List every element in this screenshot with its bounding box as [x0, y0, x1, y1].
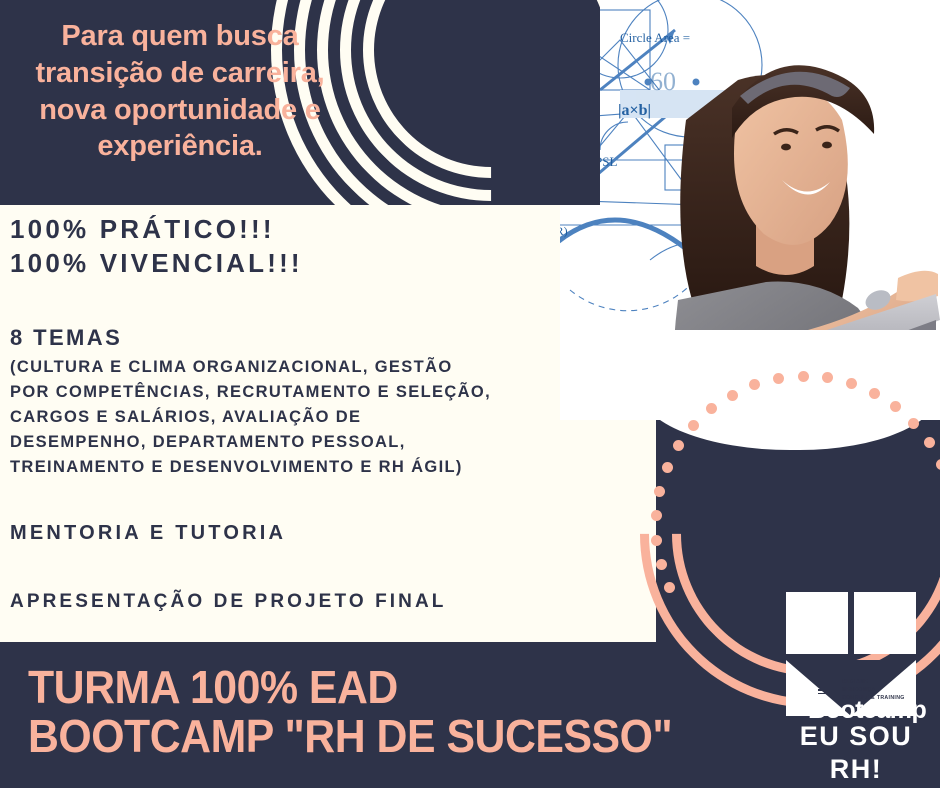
- cta-line-1: TURMA 100% EAD: [28, 663, 735, 712]
- shout-line-2: 100% VIVENCIAL!!!: [10, 246, 650, 280]
- salmon-dot: [706, 403, 717, 414]
- salmon-dot: [651, 535, 662, 546]
- headline-line-3: nova oportunidade e: [0, 92, 360, 129]
- temas-line-5: TREINAMENTO E DESENVOLVIMENTO E RH ÁGIL): [10, 455, 650, 480]
- projeto-final-line: APRESENTAÇÃO DE PROJETO FINAL: [10, 591, 650, 613]
- salmon-dot: [869, 388, 880, 399]
- mentoria-line: MENTORIA E TUTORIA: [10, 522, 650, 545]
- bars-icon: [818, 679, 838, 696]
- shout-line-1: 100% PRÁTICO!!!: [10, 212, 650, 246]
- salmon-dot: [651, 510, 662, 521]
- headline-line-2: transição de carreira,: [0, 55, 360, 92]
- salmon-dot: [890, 401, 901, 412]
- logo-square-left: [786, 592, 848, 654]
- call-to-action: TURMA 100% EAD BOOTCAMP "RH DE SUCESSO": [28, 663, 735, 761]
- salmon-dot: [656, 559, 667, 570]
- promotional-flyer: Area = r² Circle Area = a×b |a×b| 60 θ P…: [0, 0, 940, 788]
- salmon-dot: [846, 378, 857, 389]
- cta-line-2: BOOTCAMP "RH DE SUCESSO": [28, 712, 735, 761]
- brand-name-line-1: REGIANE: [842, 678, 905, 686]
- salmon-dot: [773, 373, 784, 384]
- brand-name-line-2: MENDONÇA: [842, 686, 905, 694]
- headline-line-1: Para quem busca: [0, 18, 360, 55]
- headline-line-4: experiência.: [0, 128, 360, 165]
- brand-mark: REGIANE MENDONÇA CONSULT & TRAINING: [818, 678, 914, 698]
- salmon-dot: [908, 418, 919, 429]
- temas-list: (CULTURA E CLIMA ORGANIZACIONAL, GESTÃO …: [10, 355, 650, 480]
- salmon-dot: [654, 486, 665, 497]
- salmon-dot: [688, 420, 699, 431]
- slogan: EU SOU RH!: [786, 720, 926, 786]
- body-copy: 100% PRÁTICO!!! 100% VIVENCIAL!!! 8 TEMA…: [10, 212, 650, 613]
- salmon-dot: [924, 437, 935, 448]
- temas-line-2: POR COMPETÊNCIAS, RECRUTAMENTO E SELEÇÃO…: [10, 380, 650, 405]
- salmon-dot: [664, 582, 675, 593]
- temas-line-4: DESEMPENHO, DEPARTAMENTO PESSOAL,: [10, 430, 650, 455]
- salmon-dot: [662, 462, 673, 473]
- salmon-dot: [822, 372, 833, 383]
- logo-block: REGIANE MENDONÇA CONSULT & TRAINING Boot…: [786, 592, 926, 788]
- slogan-line-1: EU SOU: [786, 720, 926, 753]
- salmon-dot: [727, 390, 738, 401]
- headline: Para quem busca transição de carreira, n…: [0, 18, 360, 165]
- logo-square-right: [854, 592, 916, 654]
- temas-line-1: (CULTURA E CLIMA ORGANIZACIONAL, GESTÃO: [10, 355, 650, 380]
- salmon-dot: [936, 459, 940, 470]
- temas-line-3: CARGOS E SALÁRIOS, AVALIAÇÃO DE: [10, 405, 650, 430]
- temas-title: 8 TEMAS: [10, 325, 650, 351]
- header-band: Para quem busca transição de carreira, n…: [0, 0, 600, 205]
- slogan-line-2: RH!: [786, 753, 926, 786]
- salmon-dot: [749, 379, 760, 390]
- shout-block: 100% PRÁTICO!!! 100% VIVENCIAL!!!: [10, 212, 650, 281]
- salmon-dot: [798, 371, 809, 382]
- salmon-dot: [673, 440, 684, 451]
